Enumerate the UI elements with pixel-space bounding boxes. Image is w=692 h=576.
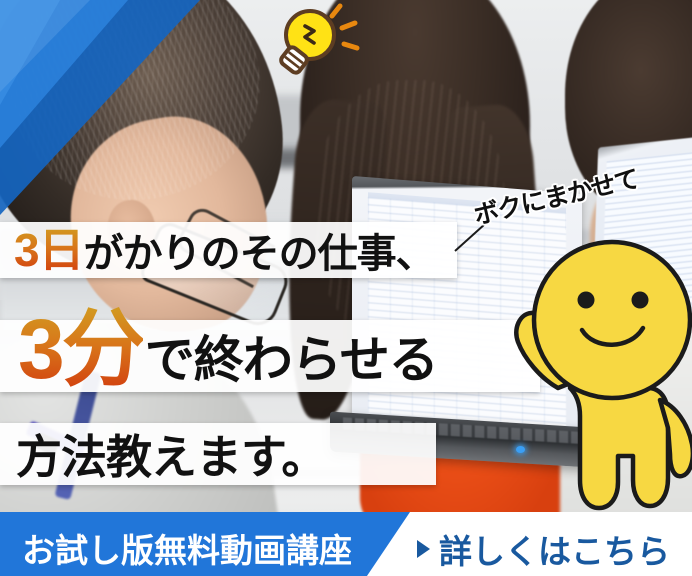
yellow-smiley-mascot (500, 238, 692, 528)
cta-label: 詳しくはこちら (439, 525, 670, 573)
lightbulb-icon (258, 2, 364, 84)
offer-label: お試し版無料動画講座 (22, 524, 352, 572)
play-triangle-icon (417, 540, 430, 558)
cta-link[interactable]: 詳しくはこちら (417, 525, 670, 573)
ad-banner[interactable]: 3日 がかりのその仕事、 3分 で終わらせる 方法教えます。 ボクにまかせて (0, 0, 692, 576)
bottom-cta-bar[interactable]: お試し版無料動画講座 詳しくはこちら (0, 512, 692, 576)
corner-decoration (0, 0, 200, 230)
headline-band-2: 3分 で終わらせる (0, 320, 540, 392)
headline-1-number: 3日 (14, 227, 84, 273)
headline-2-number: 3分 (18, 307, 143, 391)
headline-1-text: がかりのその仕事、 (84, 221, 435, 279)
headline-3-text: 方法教えます。 (16, 421, 326, 487)
headline-2-text: で終わらせる (145, 320, 438, 392)
headline-band-3: 方法教えます。 (0, 423, 436, 485)
headline-band-1: 3日 がかりのその仕事、 (0, 222, 457, 278)
